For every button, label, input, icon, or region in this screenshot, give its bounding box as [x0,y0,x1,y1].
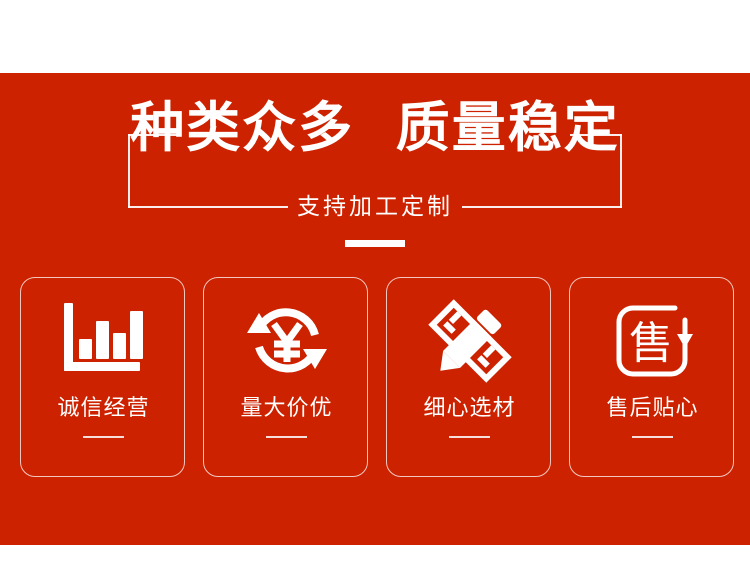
svg-text:售: 售 [629,318,673,369]
feature-card-label: 细心选材 [387,394,552,424]
main-title: 种类众多 质量稳定 [0,95,750,161]
yuan-refresh-icon [204,295,369,387]
feature-card-integrity[interactable]: 诚信经营 [20,277,185,477]
bar-chart-icon [21,295,186,387]
promo-banner: 种类众多 质量稳定 支持加工定制 诚信经营 [0,73,750,545]
feature-card-label: 售后贴心 [570,394,735,424]
title-underbar [345,240,405,247]
after-sales-icon: 售 [570,295,735,387]
feature-card-label: 量大价优 [204,394,369,424]
card-rule [83,436,124,438]
feature-card-aftersales[interactable]: 售 售后贴心 [569,277,734,477]
feature-card-price[interactable]: 量大价优 [203,277,368,477]
card-rule [632,436,673,438]
pencil-ruler-icon [387,295,552,387]
heading-block: 种类众多 质量稳定 支持加工定制 [0,73,750,263]
subtitle: 支持加工定制 [0,189,750,225]
card-rule [449,436,490,438]
card-rule [266,436,307,438]
feature-card-material[interactable]: 细心选材 [386,277,551,477]
feature-card-label: 诚信经营 [21,394,186,424]
feature-card-list: 诚信经营 [20,277,734,477]
